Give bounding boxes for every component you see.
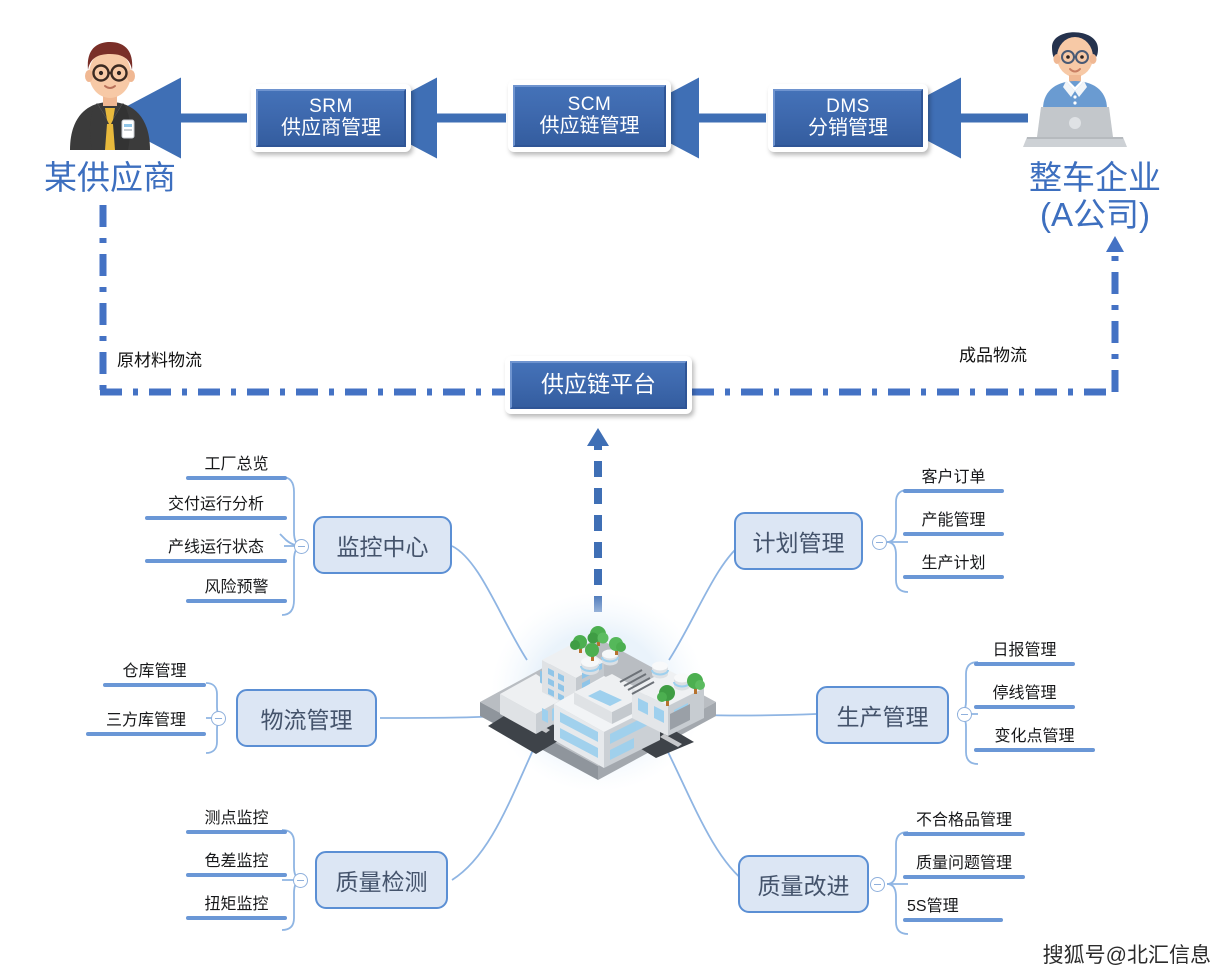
collapse-toggle-quality-improvement[interactable] [870, 877, 885, 892]
sub-item-quality-inspect-2-label: 扭矩监控 [186, 890, 287, 916]
oem-label-line1: 整车企业 [1000, 160, 1190, 197]
sub-item-quality-improve-0-label: 不合格品管理 [903, 806, 1025, 832]
sub-item-production-1-label: 停线管理 [974, 679, 1075, 705]
sub-item-quality-inspect-0[interactable]: 测点监控 [186, 804, 287, 834]
process-box-srm-code: SRM [309, 96, 353, 117]
sub-item-plan-2-label: 生产计划 [903, 549, 1004, 575]
supplier-label-line1: 某供应商 [10, 160, 210, 197]
sub-item-monitor-2-label: 产线运行状态 [145, 533, 287, 559]
sub-item-underline [86, 732, 206, 736]
collapse-toggle-monitor-center[interactable] [294, 539, 309, 554]
sub-item-underline [145, 516, 287, 520]
process-box-scm-code: SCM [568, 94, 612, 115]
collapse-toggle-production-management[interactable] [957, 707, 972, 722]
sub-item-quality-improve-1[interactable]: 质量问题管理 [903, 849, 1025, 879]
sub-item-underline [974, 705, 1075, 709]
sub-item-underline [186, 916, 287, 920]
process-box-srm[interactable]: SRM 供应商管理 [251, 84, 411, 152]
sub-item-monitor-1-label: 交付运行分析 [145, 490, 287, 516]
sub-item-logistics-0[interactable]: 仓库管理 [103, 657, 206, 687]
sub-item-monitor-2[interactable]: 产线运行状态 [145, 533, 287, 563]
mindmap-node-logistics-management[interactable]: 物流管理 [236, 689, 377, 747]
sub-item-underline [186, 476, 287, 480]
sub-item-logistics-1-label: 三方库管理 [86, 706, 206, 732]
process-box-srm-name: 供应商管理 [281, 117, 381, 139]
sub-item-quality-improve-2[interactable]: 5S管理 [903, 892, 1003, 922]
finished-goods-flow-label: 成品物流 [959, 341, 1027, 366]
factory-halo [491, 592, 705, 792]
raw-material-flow-label: 原材料物流 [117, 346, 202, 371]
mindmap-trunks [380, 542, 816, 884]
sub-item-quality-improve-2-label: 5S管理 [903, 892, 1003, 918]
sub-item-quality-improve-0[interactable]: 不合格品管理 [903, 806, 1025, 836]
finished-goods-arrow-head [1106, 236, 1124, 252]
sub-item-monitor-0-label: 工厂总览 [186, 450, 287, 476]
sub-item-production-2[interactable]: 变化点管理 [974, 722, 1095, 752]
sub-item-underline [145, 559, 287, 563]
sub-item-underline [186, 830, 287, 834]
sub-item-plan-0[interactable]: 客户订单 [903, 463, 1004, 493]
collapse-toggle-plan-management[interactable] [872, 535, 887, 550]
sub-item-underline [903, 575, 1004, 579]
sub-item-monitor-3[interactable]: 风险预警 [186, 573, 287, 603]
oem-label: 整车企业 (A公司) [1000, 160, 1190, 234]
sub-item-plan-0-label: 客户订单 [903, 463, 1004, 489]
sub-item-quality-inspect-2[interactable]: 扭矩监控 [186, 890, 287, 920]
sub-item-logistics-0-label: 仓库管理 [103, 657, 206, 683]
process-box-dms-name: 分销管理 [808, 117, 888, 139]
mindmap-node-quality-improvement[interactable]: 质量改进 [738, 855, 869, 913]
collapse-toggle-logistics-management[interactable] [211, 711, 226, 726]
sub-item-monitor-3-label: 风险预警 [186, 573, 287, 599]
isometric-factory-icon [480, 626, 716, 780]
process-box-dms-code: DMS [826, 96, 870, 117]
sub-item-underline [903, 489, 1004, 493]
sub-item-underline [903, 832, 1025, 836]
sub-item-plan-1-label: 产能管理 [903, 506, 1004, 532]
person-at-laptop-icon [1023, 32, 1127, 147]
sub-item-quality-improve-1-label: 质量问题管理 [903, 849, 1025, 875]
mindmap-node-production-management[interactable]: 生产管理 [816, 686, 949, 744]
sub-item-underline [103, 683, 206, 687]
sub-item-production-1[interactable]: 停线管理 [974, 679, 1075, 709]
oem-label-line2: (A公司) [1000, 197, 1190, 234]
watermark: 搜狐号@北汇信息 [1043, 939, 1211, 969]
process-box-scm[interactable]: SCM 供应链管理 [508, 80, 671, 152]
supply-chain-platform-box[interactable]: 供应链平台 [505, 356, 692, 414]
finished-goods-flow-line [692, 252, 1115, 392]
sub-item-underline [974, 748, 1095, 752]
mindmap-node-quality-inspection[interactable]: 质量检测 [315, 851, 448, 909]
sub-item-production-0[interactable]: 日报管理 [974, 636, 1075, 666]
sub-item-plan-1[interactable]: 产能管理 [903, 506, 1004, 536]
sub-item-production-0-label: 日报管理 [974, 636, 1075, 662]
process-box-scm-name: 供应链管理 [540, 115, 640, 137]
diagram-canvas: SRM 供应商管理 SCM 供应链管理 DMS 分销管理 供应链平台 某供应商 … [0, 0, 1221, 977]
sub-item-quality-inspect-0-label: 测点监控 [186, 804, 287, 830]
sub-item-underline [974, 662, 1075, 666]
mindmap-node-monitor-center[interactable]: 监控中心 [313, 516, 452, 574]
businessman-avatar-icon [70, 42, 150, 150]
platform-uplink-arrow-head [587, 428, 609, 446]
sub-item-underline [903, 918, 1003, 922]
mindmap-node-plan-management[interactable]: 计划管理 [734, 512, 863, 570]
sub-item-underline [186, 873, 287, 877]
sub-item-plan-2[interactable]: 生产计划 [903, 549, 1004, 579]
sub-item-quality-inspect-1-label: 色差监控 [186, 847, 287, 873]
supply-chain-platform-label: 供应链平台 [541, 372, 656, 398]
sub-item-monitor-1[interactable]: 交付运行分析 [145, 490, 287, 520]
sub-item-logistics-1[interactable]: 三方库管理 [86, 706, 206, 736]
sub-item-underline [903, 532, 1004, 536]
sub-item-production-2-label: 变化点管理 [974, 722, 1095, 748]
collapse-toggle-quality-inspection[interactable] [293, 873, 308, 888]
process-box-dms[interactable]: DMS 分销管理 [768, 84, 928, 152]
sub-item-underline [903, 875, 1025, 879]
supplier-label: 某供应商 [10, 160, 210, 197]
sub-item-quality-inspect-1[interactable]: 色差监控 [186, 847, 287, 877]
sub-item-underline [186, 599, 287, 603]
sub-item-monitor-0[interactable]: 工厂总览 [186, 450, 287, 480]
